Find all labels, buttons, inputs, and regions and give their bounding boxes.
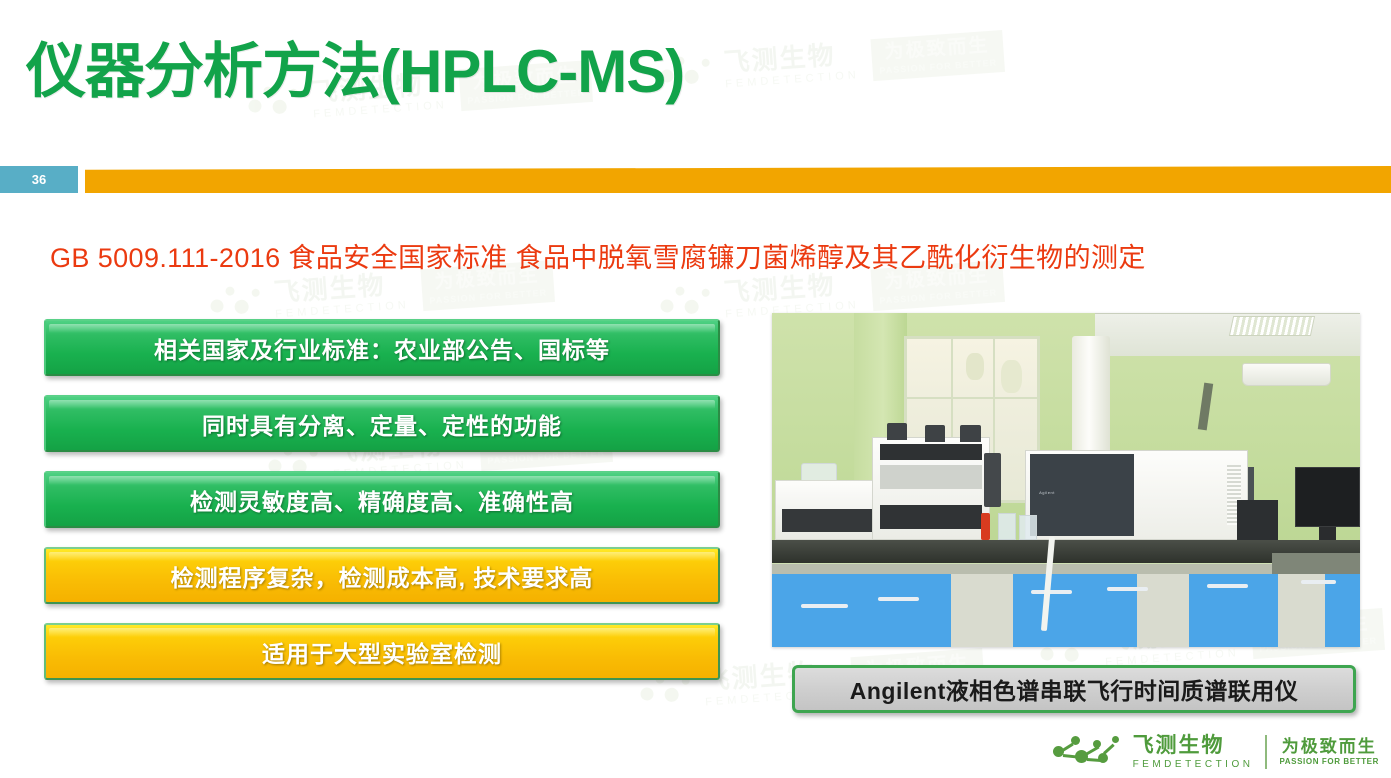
photo-solvent-cap — [960, 425, 981, 442]
watermark-brand-en: FEMDETECTION — [725, 70, 860, 90]
photo-cabinet-handle — [1207, 584, 1248, 588]
accent-bar — [85, 166, 1391, 193]
photo-bench-return — [1272, 553, 1360, 573]
brand-slogan: 为极致而生 PASSION FOR BETTER — [1279, 738, 1379, 766]
brand-watermark: 飞测生物FEMDETECTION为极致而生PASSION FOR BETTER — [659, 30, 1005, 96]
photo-cabinet-handle — [1301, 580, 1336, 584]
watermark-slogan-cn: 为极致而生 — [884, 36, 990, 63]
photo-transfer-arm — [984, 453, 1002, 506]
molecule-icon — [209, 282, 270, 324]
watermark-slogan-en: PASSION FOR BETTER — [879, 287, 997, 306]
footer-logo: 飞测生物 FEMDETECTION 为极致而生 PASSION FOR BETT… — [1051, 734, 1379, 770]
standard-heading: GB 5009.111-2016 食品安全国家标准 食品中脱氧雪腐镰刀菌烯醇及其… — [50, 236, 1146, 275]
photo-cabinet-handle — [801, 604, 848, 608]
watermark-slogan-en: PASSION FOR BETTER — [879, 57, 997, 76]
photo-cabinet-handle — [878, 597, 919, 601]
molecule-icon — [659, 282, 720, 324]
feature-banner-label: 同时具有分离、定量、定性的功能 — [202, 407, 562, 441]
photo-window-detail — [966, 353, 984, 380]
watermark-brand-cn: 飞测生物 — [723, 271, 859, 306]
watermark-brand: 飞测生物FEMDETECTION — [273, 271, 410, 321]
molecule-icon — [1051, 734, 1125, 770]
photo-cabinet-handle — [1107, 587, 1148, 591]
feature-banner: 适用于大型实验室检测 — [44, 623, 720, 680]
photo-air-conditioner — [1242, 363, 1330, 386]
feature-banner-label: 检测程序复杂，检测成本高, 技术要求高 — [171, 559, 594, 593]
lab-instrument-photo: Agilent — [772, 313, 1360, 647]
photo-ceiling — [1095, 313, 1360, 356]
photo-solvent-cap — [925, 425, 946, 442]
photo-window-detail — [1001, 360, 1022, 393]
feature-banner: 同时具有分离、定量、定性的功能 — [44, 395, 720, 452]
brand-text: 飞测生物 FEMDETECTION — [1133, 735, 1254, 770]
photo-monitor — [1295, 467, 1360, 527]
feature-banner-label: 相关国家及行业标准：农业部公告、国标等 — [154, 331, 610, 365]
photo-cabinet-handle — [1031, 590, 1072, 594]
watermark-brand: 飞测生物FEMDETECTION — [723, 41, 860, 91]
feature-banner-label: 检测灵敏度高、精确度高、准确性高 — [190, 483, 574, 517]
page-title: 仪器分析方法(HPLC-MS) — [26, 42, 684, 102]
photo-red-cylinder — [981, 513, 990, 540]
photo-cabinet-gap — [1278, 574, 1325, 647]
photo-instrument-brand-label: Agilent — [1039, 490, 1055, 495]
photo-ceiling-light — [1228, 316, 1315, 336]
photo-window-mullion — [904, 397, 1039, 399]
page-number-badge: 36 — [0, 166, 78, 193]
photo-caption: Angilent液相色谱串联飞行时间质谱联用仪 — [792, 665, 1356, 713]
feature-banner-list: 相关国家及行业标准：农业部公告、国标等 同时具有分离、定量、定性的功能 检测灵敏… — [44, 319, 720, 699]
photo-reagent-bottle — [1019, 515, 1037, 540]
feature-banner: 检测灵敏度高、精确度高、准确性高 — [44, 471, 720, 528]
photo-cabinets — [772, 574, 1360, 647]
watermark-slogan: 为极致而生PASSION FOR BETTER — [870, 30, 1004, 81]
photo-cabinet-gap — [1137, 574, 1190, 647]
photo-ceiling-edge — [1095, 313, 1360, 314]
watermark-brand-cn: 飞测生物 — [273, 271, 409, 306]
logo-divider — [1265, 735, 1267, 769]
brand-slogan-cn: 为极致而生 — [1282, 738, 1377, 755]
photo-mass-spectrometer: Agilent — [1025, 450, 1248, 540]
photo-cabinet-gap — [951, 574, 1013, 647]
feature-banner: 检测程序复杂，检测成本高, 技术要求高 — [44, 547, 720, 604]
feature-banner-label: 适用于大型实验室检测 — [262, 635, 502, 669]
photo-hplc-stack — [872, 437, 990, 541]
watermark-brand-en: FEMDETECTION — [275, 300, 410, 320]
watermark-slogan-en: PASSION FOR BETTER — [429, 287, 547, 306]
photo-monitor-stand — [1319, 527, 1337, 540]
brand-slogan-en: PASSION FOR BETTER — [1279, 758, 1379, 766]
watermark-brand-cn: 飞测生物 — [723, 41, 859, 76]
feature-banner: 相关国家及行业标准：农业部公告、国标等 — [44, 319, 720, 376]
photo-reagent-bottle — [998, 513, 1016, 540]
photo-instrument-module — [775, 480, 881, 540]
brand-name-cn: 飞测生物 — [1133, 735, 1254, 756]
brand-name-en: FEMDETECTION — [1133, 760, 1254, 770]
photo-solvent-cap — [887, 423, 908, 440]
